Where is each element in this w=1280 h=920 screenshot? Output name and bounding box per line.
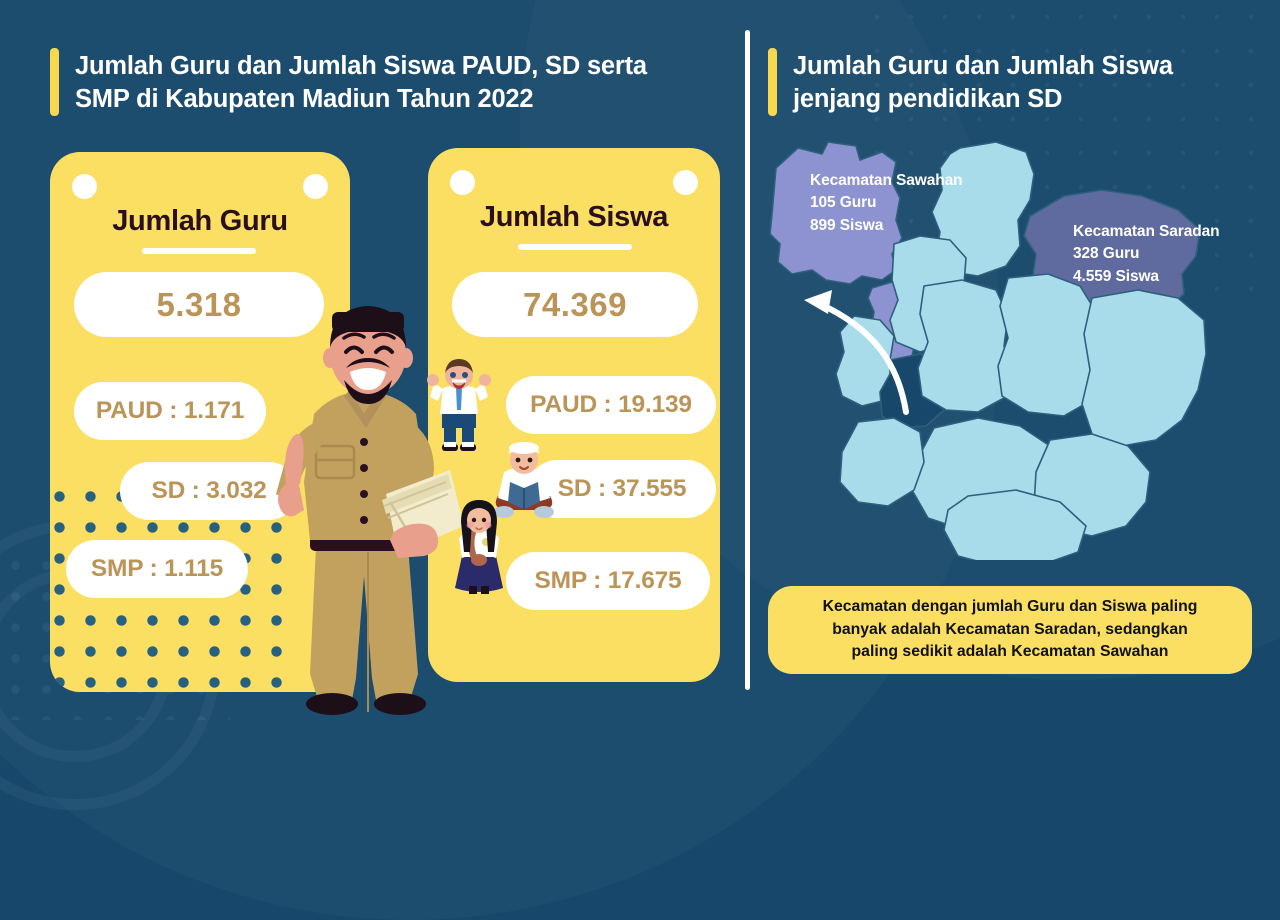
- panel-divider: [745, 30, 750, 690]
- title-accent-bar: [50, 48, 59, 116]
- title-accent-bar: [768, 48, 777, 116]
- siswa-sd-value: SD : 37.555: [528, 460, 716, 518]
- card-heading-siswa: Jumlah Siswa: [428, 201, 720, 234]
- guru-smp-value: SMP : 1.115: [66, 540, 248, 598]
- punch-hole-icon: [303, 174, 328, 199]
- map-region-south-west: [840, 418, 924, 506]
- card-jumlah-guru: Jumlah Guru 5.318 PAUD : 1.171 SD : 3.03…: [50, 152, 350, 692]
- infographic-canvas: Jumlah Guru dan Jumlah Siswa PAUD, SD se…: [0, 0, 1280, 720]
- left-panel-title-text: Jumlah Guru dan Jumlah Siswa PAUD, SD se…: [75, 48, 647, 116]
- map-region-center-left: [918, 280, 1012, 412]
- card-jumlah-siswa: Jumlah Siswa 74.369 PAUD : 19.139 SD : 3…: [428, 148, 720, 682]
- punch-hole-icon: [450, 170, 475, 195]
- siswa-paud-value: PAUD : 19.139: [506, 376, 716, 434]
- heading-underline: [142, 248, 256, 254]
- card-heading-guru: Jumlah Guru: [50, 205, 350, 238]
- map-label-sawahan: Kecamatan Sawahan 105 Guru 899 Siswa: [810, 170, 963, 237]
- guru-sd-value: SD : 3.032: [120, 462, 298, 520]
- summary-caption: Kecamatan dengan jumlah Guru dan Siswa p…: [768, 586, 1252, 674]
- guru-total-value: 5.318: [74, 272, 324, 337]
- guru-paud-value: PAUD : 1.171: [74, 382, 266, 440]
- punch-hole-icon: [673, 170, 698, 195]
- heading-underline: [518, 244, 632, 250]
- right-panel-title: Jumlah Guru dan Jumlah Siswa jenjang pen…: [768, 48, 1238, 116]
- punch-hole-icon: [72, 174, 97, 199]
- siswa-total-value: 74.369: [452, 272, 698, 337]
- right-panel-title-text: Jumlah Guru dan Jumlah Siswa jenjang pen…: [793, 48, 1173, 116]
- siswa-smp-value: SMP : 17.675: [506, 552, 710, 610]
- left-panel-title: Jumlah Guru dan Jumlah Siswa PAUD, SD se…: [50, 48, 710, 116]
- map-region-east: [1082, 290, 1206, 446]
- map-label-saradan: Kecamatan Saradan 328 Guru 4.559 Siswa: [1073, 221, 1219, 288]
